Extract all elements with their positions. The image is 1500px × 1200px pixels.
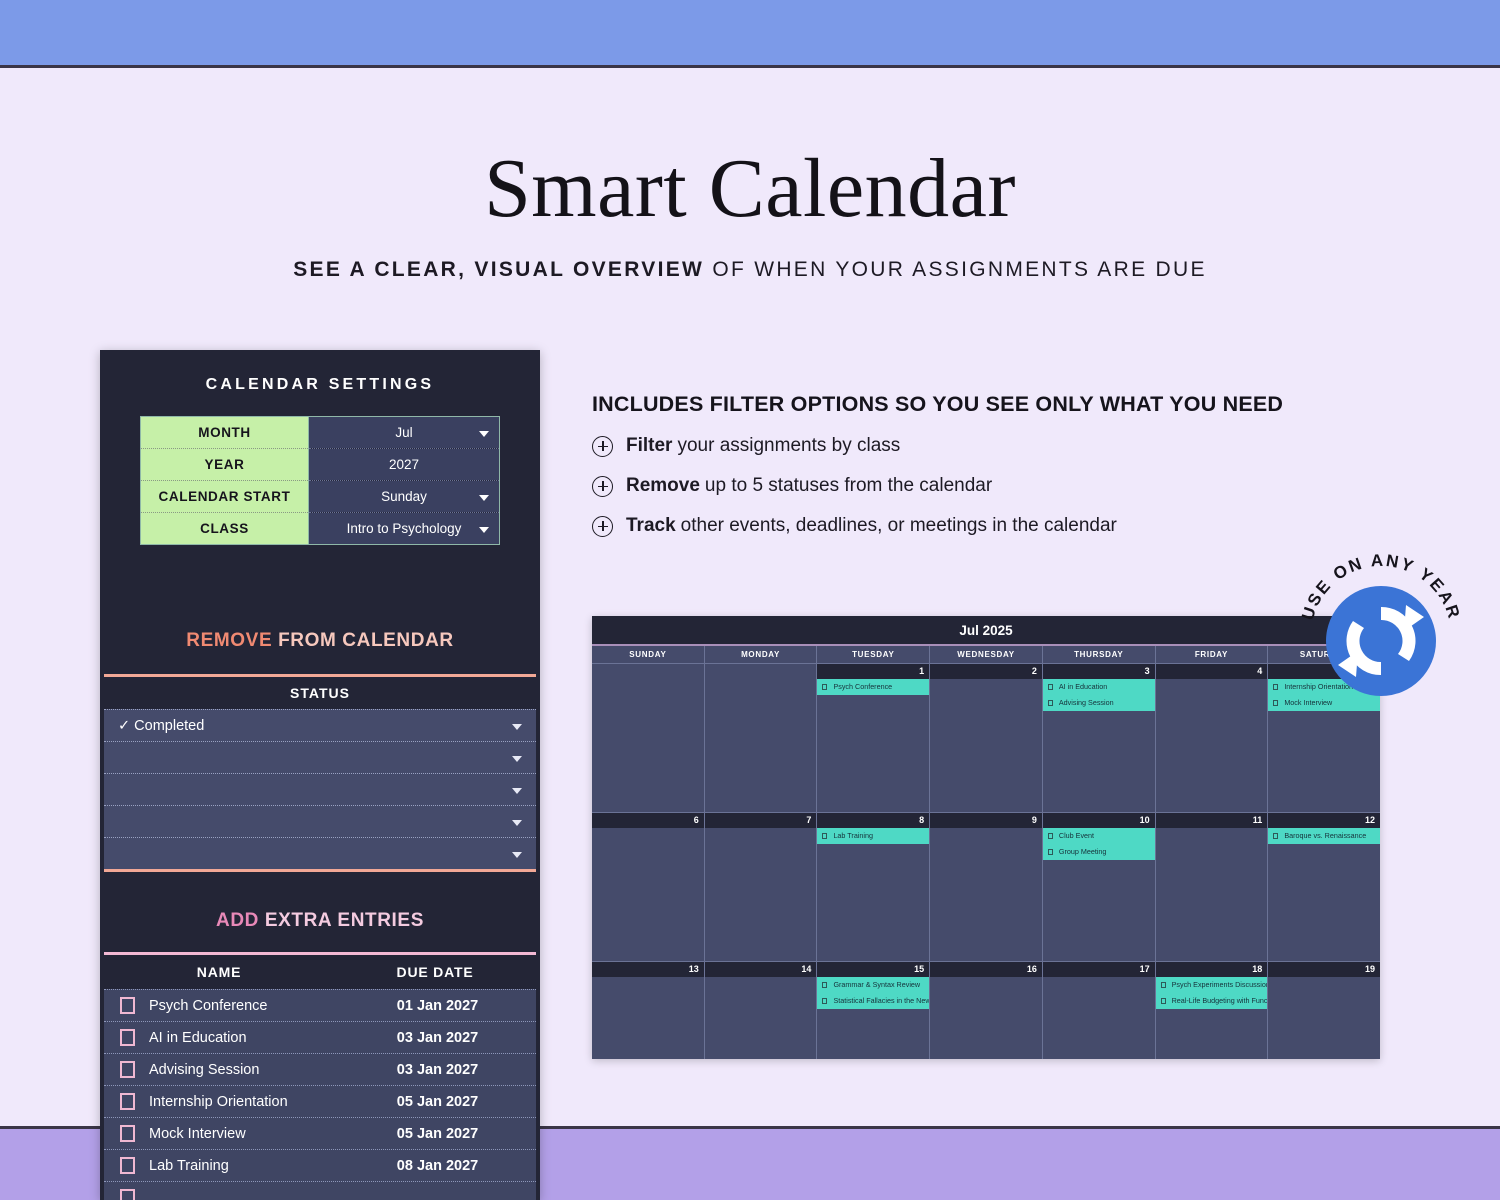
settings-row-calendar-start: CALENDAR START Sunday: [141, 481, 500, 513]
calendar-date-number-row: 12345: [592, 664, 1380, 679]
calendar-event-label: Lab Training: [833, 828, 873, 844]
feature-item-remove: Remove up to 5 statuses from the calenda…: [592, 475, 1352, 497]
settings-label-month: MONTH: [141, 417, 309, 449]
calendar-day-cell[interactable]: Baroque vs. Renaissance: [1268, 828, 1380, 961]
calendar-day-cell[interactable]: [1268, 977, 1380, 1059]
add-section-title: ADD EXTRA ENTRIES: [100, 910, 540, 932]
page-title: Smart Calendar: [0, 140, 1500, 237]
checkbox-icon[interactable]: [120, 1061, 135, 1078]
checkbox-icon[interactable]: [822, 982, 827, 988]
settings-label-calendar-start: CALENDAR START: [141, 481, 309, 513]
entry-row[interactable]: AI in Education 03 Jan 2027: [104, 1021, 536, 1053]
calendar-day-cell[interactable]: Club EventGroup Meeting: [1043, 828, 1156, 961]
calendar-day-cell[interactable]: Psych Conference: [817, 679, 930, 812]
calendar-event[interactable]: Real-Life Budgeting with Functions: [1156, 993, 1268, 1009]
calendar-date-number: 9: [930, 813, 1043, 828]
remove-title-rest: FROM CALENDAR: [272, 630, 454, 651]
calendar-cell-row: Lab TrainingClub EventGroup MeetingBaroq…: [592, 828, 1380, 961]
checkbox-icon[interactable]: [822, 833, 827, 839]
entry-row[interactable]: Mock Interview 05 Jan 2027: [104, 1117, 536, 1149]
calendar-date-number: 17: [1043, 962, 1156, 977]
calendar-date-number: 7: [705, 813, 818, 828]
calendar-day-header-row: SUNDAY MONDAY TUESDAY WEDNESDAY THURSDAY…: [592, 646, 1380, 663]
calendar-event-label: Grammar & Syntax Review: [833, 977, 920, 993]
remove-from-calendar-section: REMOVE FROM CALENDAR STATUS ✓ Completed: [100, 630, 540, 872]
status-column-header: STATUS: [104, 677, 536, 709]
entry-name: Advising Session: [149, 1062, 339, 1078]
calendar-month-title: Jul 2025: [592, 616, 1380, 646]
calendar-event[interactable]: Grammar & Syntax Review: [817, 977, 929, 993]
calendar-event[interactable]: Statistical Fallacies in the News: [817, 993, 929, 1009]
calendar-date-number: 15: [817, 962, 930, 977]
entry-due-date: 08 Jan 2027: [339, 1158, 536, 1174]
remove-title-bold: REMOVE: [186, 630, 272, 651]
calendar-event[interactable]: Advising Session: [1043, 695, 1155, 711]
calendar-event[interactable]: Club Event: [1043, 828, 1155, 844]
feature-item-track-bold: Track: [626, 515, 676, 537]
top-decorative-band: [0, 0, 1500, 68]
add-extra-entries-section: ADD EXTRA ENTRIES NAME DUE DATE Psych Co…: [100, 910, 540, 1200]
remove-section-title: REMOVE FROM CALENDAR: [100, 630, 540, 652]
checkbox-icon[interactable]: [1048, 849, 1053, 855]
entry-name: Internship Orientation: [149, 1094, 339, 1110]
calendar-event[interactable]: Psych Conference: [817, 679, 929, 695]
settings-value-year-text: 2027: [389, 457, 419, 472]
calendar-day-cell[interactable]: [1156, 828, 1269, 961]
entry-row[interactable]: Advising Session 03 Jan 2027: [104, 1053, 536, 1085]
calendar-day-cell[interactable]: [930, 828, 1043, 961]
feature-item-remove-bold: Remove: [626, 475, 700, 497]
calendar-date-number: [592, 664, 705, 679]
calendar-date-number-row: 6789101112: [592, 813, 1380, 828]
calendar-event[interactable]: AI in Education: [1043, 679, 1155, 695]
entries-table: NAME DUE DATE Psych Conference 01 Jan 20…: [104, 952, 536, 1200]
calendar-day-cell[interactable]: Psych Experiments DiscussionReal-Life Bu…: [1156, 977, 1269, 1059]
feature-item-remove-rest: up to 5 statuses from the calendar: [705, 475, 992, 497]
calendar-date-number: 10: [1043, 813, 1156, 828]
entries-column-due-date: DUE DATE: [334, 964, 536, 980]
calendar-event-label: Psych Experiments Discussion: [1172, 977, 1269, 993]
entry-row[interactable]: Internship Orientation 05 Jan 2027: [104, 1085, 536, 1117]
calendar-event-label: Club Event: [1059, 828, 1094, 844]
entry-due-date: 03 Jan 2027: [339, 1062, 536, 1078]
feature-item-filter: Filter your assignments by class: [592, 435, 1352, 457]
checkbox-icon[interactable]: [120, 1093, 135, 1110]
settings-value-class[interactable]: Intro to Psychology: [309, 513, 500, 545]
page-subtitle-bold: SEE A CLEAR, VISUAL OVERVIEW: [293, 258, 704, 281]
checkbox-icon[interactable]: [1273, 684, 1278, 690]
calendar-day-cell[interactable]: AI in EducationAdvising Session: [1043, 679, 1156, 812]
calendar-day-cell[interactable]: [592, 828, 705, 961]
calendar-week-row: 12345Psych ConferenceAI in EducationAdvi…: [592, 663, 1380, 812]
calendar-event-label: Group Meeting: [1059, 844, 1107, 860]
calendar-week-row: 13141516171819Grammar & Syntax ReviewSta…: [592, 961, 1380, 1059]
calendar-event-label: Baroque vs. Renaissance: [1284, 828, 1366, 844]
calendar-week-row: 6789101112Lab TrainingClub EventGroup Me…: [592, 812, 1380, 961]
settings-value-calendar-start-text: Sunday: [381, 489, 427, 504]
chevron-down-icon[interactable]: [512, 820, 522, 826]
settings-row-class: CLASS Intro to Psychology: [141, 513, 500, 545]
calendar-date-number: 11: [1156, 813, 1269, 828]
calendar-day-name-thursday: THURSDAY: [1043, 646, 1156, 663]
calendar-cell-row: Psych ConferenceAI in EducationAdvising …: [592, 679, 1380, 812]
calendar-event[interactable]: Group Meeting: [1043, 844, 1155, 860]
chevron-down-icon[interactable]: [512, 724, 522, 730]
entry-name: Mock Interview: [149, 1126, 339, 1142]
calendar-event-label: Psych Conference: [833, 679, 892, 695]
calendar-event[interactable]: Baroque vs. Renaissance: [1268, 828, 1380, 844]
calendar-date-number: 4: [1156, 664, 1269, 679]
status-row-4[interactable]: [104, 805, 536, 837]
settings-value-calendar-start[interactable]: Sunday: [309, 481, 500, 513]
entries-column-name: NAME: [104, 964, 334, 980]
calendar-day-name-monday: MONDAY: [705, 646, 818, 663]
features-title: INCLUDES FILTER OPTIONS SO YOU SEE ONLY …: [592, 392, 1352, 417]
checkbox-icon[interactable]: [1161, 998, 1166, 1004]
entry-row[interactable]: Psych Conference 01 Jan 2027: [104, 989, 536, 1021]
settings-value-month[interactable]: Jul: [309, 417, 500, 449]
feature-item-filter-bold: Filter: [626, 435, 672, 457]
calendar-date-number: 18: [1156, 962, 1269, 977]
checkbox-icon[interactable]: [120, 1125, 135, 1142]
page-subtitle: SEE A CLEAR, VISUAL OVERVIEW OF WHEN YOU…: [0, 258, 1500, 282]
entries-header-row: NAME DUE DATE: [104, 955, 536, 989]
entry-row[interactable]: [104, 1181, 536, 1200]
calendar-day-cell[interactable]: Lab Training: [817, 828, 930, 961]
entry-due-date: 05 Jan 2027: [339, 1094, 536, 1110]
calendar-date-number: [705, 664, 818, 679]
calendar-event-label: Real-Life Budgeting with Functions: [1172, 993, 1269, 1009]
calendar-day-cell[interactable]: [930, 977, 1043, 1059]
calendar-event-label: Statistical Fallacies in the News: [833, 993, 930, 1009]
entry-due-date: 03 Jan 2027: [339, 1030, 536, 1046]
checkbox-icon[interactable]: [822, 684, 827, 690]
checkbox-icon[interactable]: [822, 998, 827, 1004]
settings-heading: CALENDAR SETTINGS: [100, 350, 540, 394]
calendar-preview: Jul 2025 SUNDAY MONDAY TUESDAY WEDNESDAY…: [592, 616, 1380, 1059]
calendar-day-cell[interactable]: [1156, 679, 1269, 812]
calendar-date-number: 13: [592, 962, 705, 977]
status-row-3[interactable]: [104, 773, 536, 805]
calendar-date-number: 12: [1268, 813, 1380, 828]
use-on-any-year-badge: USE ON ANY YEAR: [1288, 543, 1474, 729]
checkbox-icon[interactable]: [120, 997, 135, 1014]
calendar-day-cell[interactable]: [592, 679, 705, 812]
entry-due-date: 05 Jan 2027: [339, 1126, 536, 1142]
status-row-1[interactable]: ✓ Completed: [104, 709, 536, 741]
calendar-settings-panel: CALENDAR SETTINGS MONTH Jul YEAR 2027 CA…: [100, 350, 540, 1200]
entry-name: Psych Conference: [149, 998, 339, 1014]
chevron-down-icon[interactable]: [479, 527, 489, 533]
calendar-date-number: 14: [705, 962, 818, 977]
settings-row-month: MONTH Jul: [141, 417, 500, 449]
checkbox-icon[interactable]: [120, 1157, 135, 1174]
page-subtitle-rest: OF WHEN YOUR ASSIGNMENTS ARE DUE: [704, 258, 1207, 281]
calendar-day-cell[interactable]: [705, 828, 818, 961]
calendar-date-number: 19: [1268, 962, 1380, 977]
calendar-day-cell[interactable]: [592, 977, 705, 1059]
chevron-down-icon[interactable]: [512, 852, 522, 858]
badge-svg: USE ON ANY YEAR: [1288, 543, 1474, 729]
checkbox-icon[interactable]: [120, 1029, 135, 1046]
chevron-down-icon[interactable]: [479, 431, 489, 437]
entry-name: AI in Education: [149, 1030, 339, 1046]
settings-value-year[interactable]: 2027: [309, 449, 500, 481]
status-row-1-value: ✓ Completed: [118, 718, 204, 734]
badge-circle: [1326, 586, 1436, 696]
calendar-event[interactable]: Lab Training: [817, 828, 929, 844]
status-row-2[interactable]: [104, 741, 536, 773]
calendar-event[interactable]: Psych Experiments Discussion: [1156, 977, 1268, 993]
settings-table: MONTH Jul YEAR 2027 CALENDAR START Sunda…: [140, 416, 500, 545]
chevron-down-icon[interactable]: [512, 788, 522, 794]
chevron-down-icon[interactable]: [479, 495, 489, 501]
feature-item-track-rest: other events, deadlines, or meetings in …: [681, 515, 1117, 537]
status-filter-box: STATUS ✓ Completed: [104, 674, 536, 872]
plus-circle-icon: [592, 476, 613, 497]
calendar-date-number: 8: [817, 813, 930, 828]
calendar-day-cell[interactable]: [1043, 977, 1156, 1059]
status-row-5[interactable]: [104, 837, 536, 869]
add-title-rest: EXTRA ENTRIES: [259, 910, 424, 931]
feature-item-track: Track other events, deadlines, or meetin…: [592, 515, 1352, 537]
calendar-event-label: AI in Education: [1059, 679, 1107, 695]
checkbox-icon[interactable]: [120, 1189, 135, 1200]
feature-item-filter-rest: your assignments by class: [677, 435, 900, 457]
checkbox-icon[interactable]: [1161, 982, 1166, 988]
plus-circle-icon: [592, 516, 613, 537]
calendar-week-container: 12345Psych ConferenceAI in EducationAdvi…: [592, 663, 1380, 1059]
calendar-day-cell[interactable]: Grammar & Syntax ReviewStatistical Falla…: [817, 977, 930, 1059]
settings-value-class-text: Intro to Psychology: [347, 521, 462, 536]
plus-circle-icon: [592, 436, 613, 457]
calendar-day-name-sunday: SUNDAY: [592, 646, 705, 663]
features-list: INCLUDES FILTER OPTIONS SO YOU SEE ONLY …: [592, 392, 1352, 555]
settings-label-class: CLASS: [141, 513, 309, 545]
settings-value-month-text: Jul: [395, 425, 412, 440]
calendar-date-number: 2: [930, 664, 1043, 679]
checkbox-icon[interactable]: [1048, 700, 1053, 706]
calendar-date-number: 3: [1043, 664, 1156, 679]
calendar-date-number: 16: [930, 962, 1043, 977]
calendar-date-number: 6: [592, 813, 705, 828]
calendar-date-number-row: 13141516171819: [592, 962, 1380, 977]
entry-name: Lab Training: [149, 1158, 339, 1174]
calendar-cell-row: Grammar & Syntax ReviewStatistical Falla…: [592, 977, 1380, 1059]
checkbox-icon[interactable]: [1273, 700, 1278, 706]
calendar-event-label: Advising Session: [1059, 695, 1114, 711]
calendar-date-number: 1: [817, 664, 930, 679]
calendar-day-cell[interactable]: [705, 679, 818, 812]
chevron-down-icon[interactable]: [512, 756, 522, 762]
checkbox-icon[interactable]: [1273, 833, 1278, 839]
calendar-day-name-tuesday: TUESDAY: [817, 646, 930, 663]
checkbox-icon[interactable]: [1048, 684, 1053, 690]
add-title-bold: ADD: [216, 910, 259, 931]
calendar-day-name-wednesday: WEDNESDAY: [930, 646, 1043, 663]
settings-row-year: YEAR 2027: [141, 449, 500, 481]
checkbox-icon[interactable]: [1048, 833, 1053, 839]
entry-due-date: 01 Jan 2027: [339, 998, 536, 1014]
calendar-day-cell[interactable]: [930, 679, 1043, 812]
entry-row[interactable]: Lab Training 08 Jan 2027: [104, 1149, 536, 1181]
calendar-day-name-friday: FRIDAY: [1156, 646, 1269, 663]
calendar-day-cell[interactable]: [705, 977, 818, 1059]
settings-label-year: YEAR: [141, 449, 309, 481]
